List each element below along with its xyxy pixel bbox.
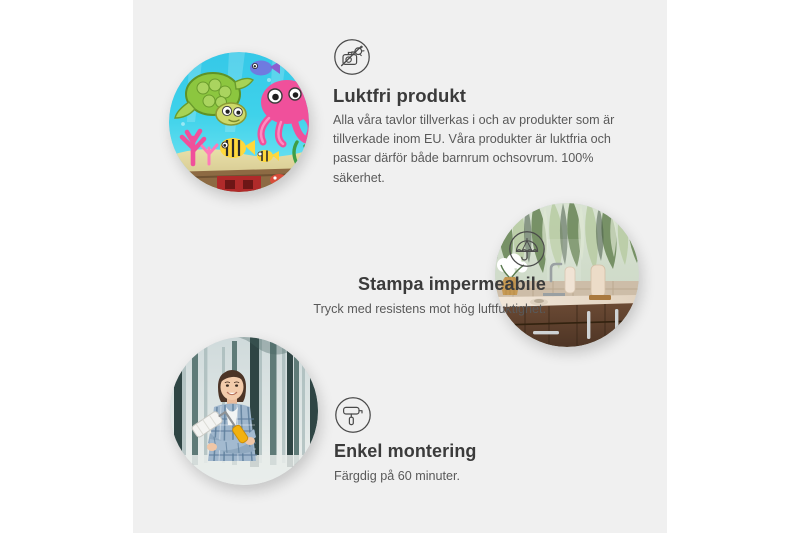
promo-feature-graphic: Luktfri produkt Alla våra tavlor tillver… bbox=[0, 0, 800, 533]
feature-title: Enkel montering bbox=[334, 441, 614, 463]
feature-odourless: Luktfri produkt Alla våra tavlor tillver… bbox=[333, 38, 633, 188]
ocean-kids-mural-thumbnail bbox=[169, 52, 309, 192]
feature-body: Färgdig på 60 minuter. bbox=[334, 467, 614, 486]
content-panel: Luktfri produkt Alla våra tavlor tillver… bbox=[133, 0, 667, 533]
paint-roller-icon bbox=[334, 396, 372, 434]
feature-body: Alla våra tavlor tillverkas i och av pro… bbox=[333, 111, 633, 188]
feature-title: Stampa impermeabile bbox=[211, 274, 546, 296]
no-odour-perfume-bottle-icon bbox=[333, 38, 371, 76]
forest-mural-installer-thumbnail bbox=[170, 337, 318, 485]
feature-waterproof: Stampa impermeabile Tryck med resistens … bbox=[211, 230, 546, 319]
feature-title: Luktfri produkt bbox=[333, 85, 633, 107]
feature-body: Tryck med resistens mot hög luftfuktighe… bbox=[211, 300, 546, 319]
umbrella-icon bbox=[508, 230, 546, 268]
feature-easy-mounting: Enkel montering Färgdig på 60 minuter. bbox=[334, 396, 614, 486]
